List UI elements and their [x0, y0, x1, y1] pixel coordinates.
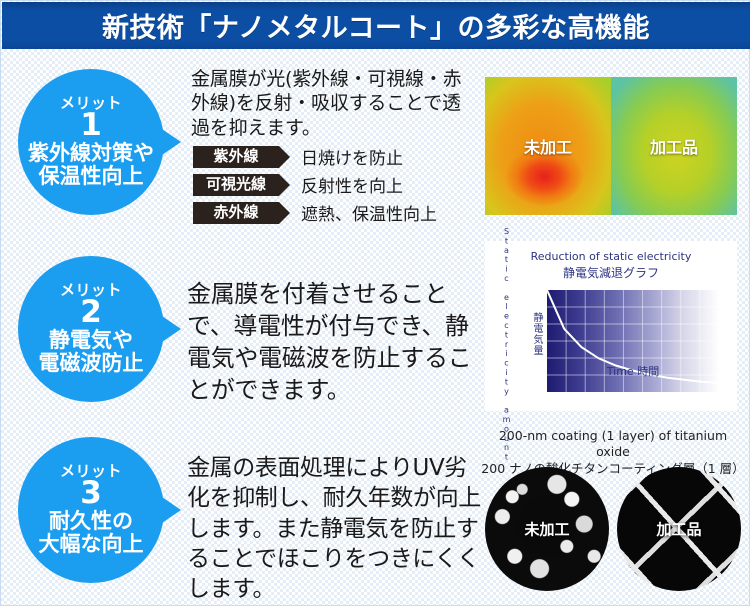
micrograph-treated: 加工品 — [617, 467, 741, 591]
merit-badge-1: メリット 1 紫外線対策や 保温性向上 — [18, 69, 164, 215]
title-banner: 新技術「ナノメタルコート」の多彩な高機能 — [2, 2, 750, 49]
tag-label: 赤外線 — [213, 205, 258, 220]
tag-description: 遮熱、保温性向上 — [301, 200, 437, 225]
micrograph-pair: 未加工 加工品 — [485, 467, 741, 595]
micrograph-untreated: 未加工 — [485, 467, 609, 591]
chart-x-axis-label: Time 時間 — [547, 363, 719, 379]
merit-title-3-line2: 大幅な向上 — [39, 533, 144, 556]
merit-badge-3: メリット 3 耐久性の 大幅な向上 — [18, 437, 164, 583]
callout-pointer-icon — [162, 316, 181, 342]
merit-title-1-line1: 紫外線対策や — [28, 142, 154, 165]
tag-label: 可視光線 — [206, 177, 266, 192]
merit-number-1: 1 — [80, 110, 102, 141]
thermal-image-untreated: 未加工 — [485, 77, 611, 215]
thermal-caption-treated: 加工品 — [611, 134, 737, 158]
tag-chevron-infrared: 赤外線 — [193, 202, 279, 224]
infographic-page: 新技術「ナノメタルコート」の多彩な高機能 メリット 1 紫外線対策や 保温性向上… — [0, 0, 750, 606]
tag-label: 紫外線 — [213, 149, 258, 164]
thermal-image-pair: 未加工 加工品 — [485, 77, 737, 215]
page-title: 新技術「ナノメタルコート」の多彩な高機能 — [102, 6, 650, 45]
merit-body-2: 金属膜を付着させることで、導電性が付与でき、静電気や電磁波を防止することができま… — [187, 279, 482, 407]
tag-row: 赤外線 遮熱、保温性向上 — [193, 200, 483, 225]
merit-badge-2: メリット 2 静電気や 電磁波防止 — [18, 256, 164, 402]
merit-title-2-line1: 静電気や — [49, 329, 133, 352]
thermal-caption-untreated: 未加工 — [485, 134, 611, 158]
tag-chevron-uv: 紫外線 — [193, 146, 279, 168]
chart-title-jp: 静電気減退グラフ — [485, 265, 737, 282]
tag-description: 反射性を向上 — [301, 172, 403, 197]
merit-body-3: 金属の表面処理によりUV劣化を抑制し、耐久年数が向上します。また静電気を防止する… — [187, 453, 482, 605]
merit-title-3-line1: 耐久性の — [49, 510, 133, 533]
callout-pointer-icon — [162, 497, 181, 523]
merit-body-1: 金属膜が光(紫外線・可視線・赤外線)を反射・吸収することで透過を抑えます。 — [191, 67, 476, 140]
chart-title-block: Reduction of static electricity 静電気減退グラフ — [485, 241, 737, 282]
static-electricity-chart: Reduction of static electricity 静電気減退グラフ… — [485, 241, 737, 411]
merit-title-1-line2: 保温性向上 — [39, 165, 144, 188]
callout-pointer-icon — [162, 129, 181, 155]
merit-number-3: 3 — [80, 478, 102, 509]
thermal-image-treated: 加工品 — [611, 77, 737, 215]
merit-number-2: 2 — [80, 297, 102, 328]
chart-title-en: Reduction of static electricity — [485, 249, 737, 265]
micrograph-caption-treated: 加工品 — [617, 519, 741, 540]
micrograph-caption-en: 200-nm coating (1 layer) of titanium oxi… — [481, 428, 745, 461]
tag-row: 紫外線 日焼けを防止 — [193, 144, 483, 169]
chart-y-axis-label-en: Static electricity amount — [497, 294, 511, 394]
micrograph-caption-untreated: 未加工 — [485, 519, 609, 540]
chart-plot-wrap: Static electricity amount 静電気量 — [485, 286, 737, 398]
tag-description: 日焼けを防止 — [301, 144, 403, 169]
tag-chevron-visible-light: 可視光線 — [193, 174, 279, 196]
tag-list-1: 紫外線 日焼けを防止 可視光線 反射性を向上 赤外線 遮熱、保温性向上 — [193, 144, 483, 228]
merit-title-2-line2: 電磁波防止 — [39, 352, 144, 375]
chart-y-axis-label-jp: 静電気量 — [529, 312, 544, 356]
tag-row: 可視光線 反射性を向上 — [193, 172, 483, 197]
